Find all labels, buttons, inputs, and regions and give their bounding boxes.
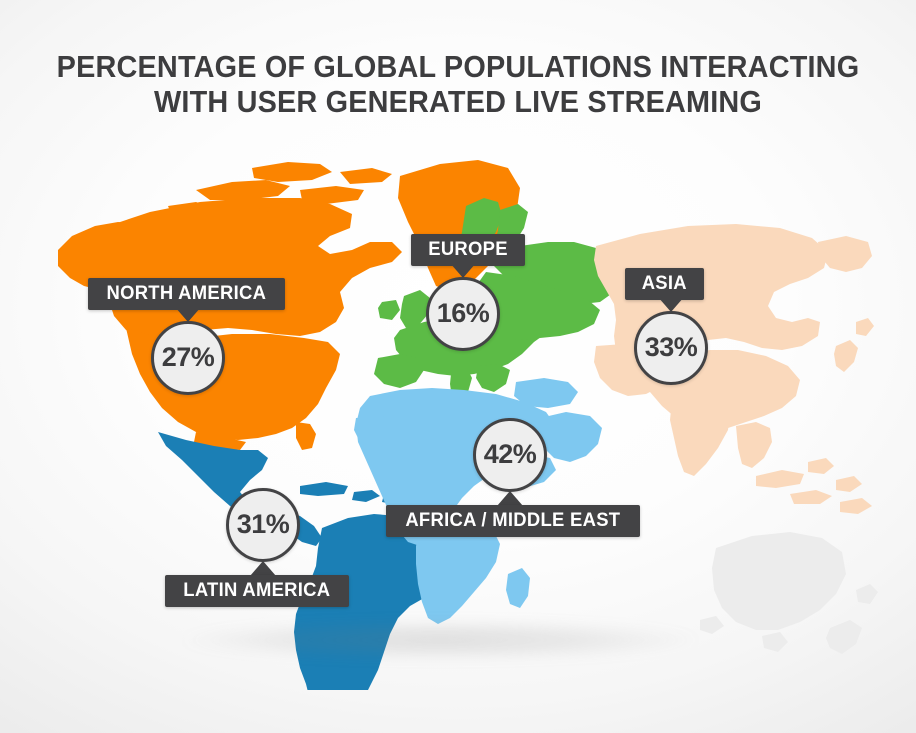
- value-africa-middle-east: 42%: [484, 441, 537, 468]
- infographic-canvas: PERCENTAGE OF GLOBAL POPULATIONS INTERAC…: [0, 0, 916, 733]
- value-north-america: 27%: [162, 344, 215, 371]
- pointer-north-america: [175, 307, 201, 322]
- value-asia: 33%: [645, 334, 698, 361]
- region-label-europe[interactable]: EUROPE: [411, 234, 525, 266]
- value-europe: 16%: [437, 300, 490, 327]
- value-bubble-north-america[interactable]: 27%: [151, 321, 225, 395]
- region-label-asia[interactable]: ASIA: [625, 268, 704, 300]
- world-map-svg: [0, 150, 916, 690]
- value-bubble-asia[interactable]: 33%: [634, 311, 708, 385]
- title-line-1: PERCENTAGE OF GLOBAL POPULATIONS INTERAC…: [32, 50, 884, 85]
- pointer-asia: [658, 297, 684, 312]
- value-bubble-latin-america[interactable]: 31%: [226, 488, 300, 562]
- pointer-latin-america: [250, 561, 276, 576]
- value-bubble-africa-middle-east[interactable]: 42%: [473, 418, 547, 492]
- page-title: PERCENTAGE OF GLOBAL POPULATIONS INTERAC…: [0, 50, 916, 119]
- pointer-europe: [450, 263, 476, 278]
- region-label-north-america[interactable]: NORTH AMERICA: [88, 278, 285, 310]
- map-region-oceania: [700, 532, 878, 654]
- value-bubble-europe[interactable]: 16%: [426, 277, 500, 351]
- world-map: [0, 150, 916, 690]
- pointer-africa-middle-east: [497, 491, 523, 506]
- region-label-africa-middle-east[interactable]: AFRICA / MIDDLE EAST: [386, 505, 640, 537]
- title-line-2: WITH USER GENERATED LIVE STREAMING: [32, 85, 884, 120]
- value-latin-america: 31%: [237, 511, 290, 538]
- region-label-latin-america[interactable]: LATIN AMERICA: [165, 575, 349, 607]
